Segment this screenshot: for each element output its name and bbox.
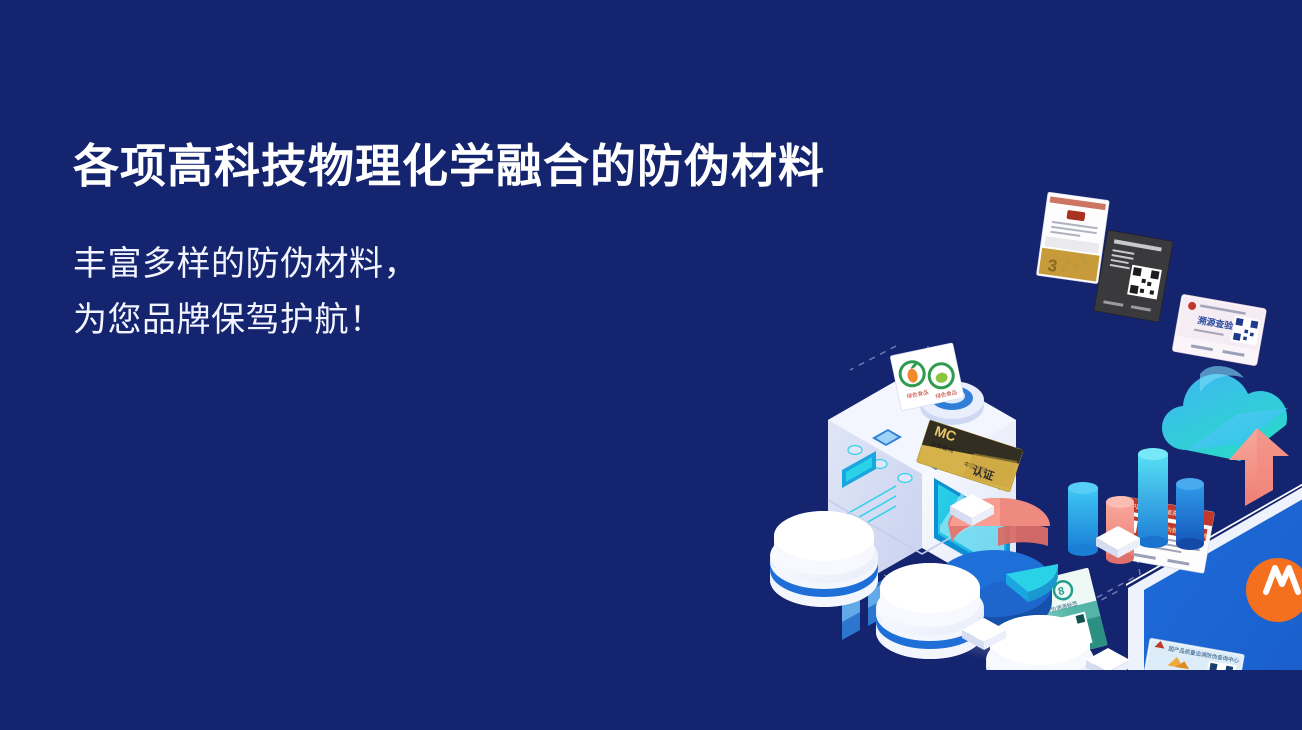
banner-stage: 各项高科技物理化学融合的防伪材料 丰富多样的防伪材料， 为您品牌保驾护航！ [0,0,1302,730]
hero-illustration: 3 [700,170,1302,670]
label-card-black-qr [1094,230,1173,322]
database-disc [770,511,878,607]
data-cube [1086,648,1130,670]
label-card-gold-crown: 3 [1036,192,1109,284]
database-disc [876,563,984,659]
label-card-pink-qr: 溯源查验 [1172,294,1267,366]
